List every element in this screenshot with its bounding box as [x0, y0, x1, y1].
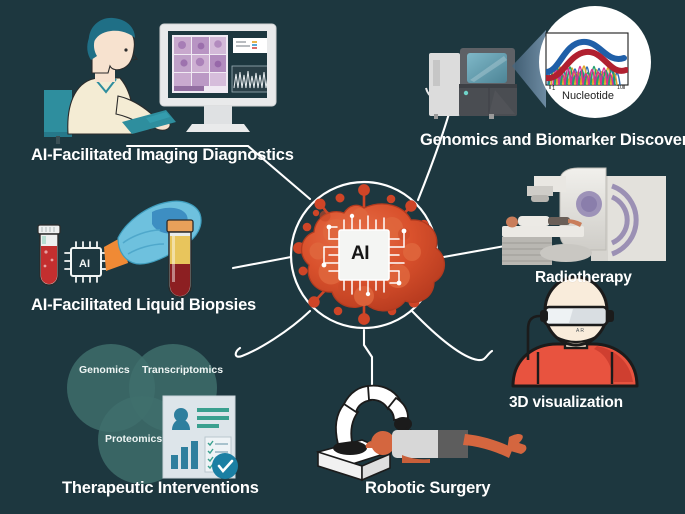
- infographic-canvas: AI-Facilitated Imaging Diagnostics Genom…: [0, 0, 685, 514]
- label-3d-visualization: 3D visualization: [509, 394, 623, 412]
- label-therapeutic-interventions: Therapeutic Interventions: [62, 479, 259, 498]
- venn-label-proteomics: Proteomics: [105, 433, 162, 445]
- label-robotic-surgery: Robotic Surgery: [365, 479, 490, 498]
- biopsy-ai-chip-label: AI: [79, 258, 90, 270]
- label-genomics-biomarker: Genomics and Biomarker Discovery: [420, 131, 685, 150]
- label-liquid-biopsies: AI-Facilitated Liquid Biopsies: [31, 296, 256, 315]
- pathology-tiles: [174, 37, 226, 86]
- venn-label-transcriptomics: Transcriptomics: [142, 364, 223, 376]
- infographic-artboard: [0, 0, 685, 514]
- verified-badge: [212, 453, 238, 479]
- label-radiotherapy: Radiotherapy: [535, 269, 632, 287]
- patient-table: [502, 226, 584, 237]
- table-base: [540, 244, 592, 262]
- ar-headset-lens-label: AR: [576, 328, 585, 334]
- blood-vial-small-icon: [38, 225, 60, 285]
- robot-wrist: [394, 417, 412, 431]
- nucleotide-tick-max: 10: [617, 85, 623, 91]
- nucleotide-tick-min: 1: [552, 86, 555, 92]
- report-card-icon: [163, 396, 238, 479]
- blood-tube-icon: [167, 220, 193, 297]
- nucleotide-axis-caption: Nucleotide: [562, 90, 614, 102]
- label-imaging-diagnostics: AI-Facilitated Imaging Diagnostics: [31, 146, 294, 165]
- venn-label-genomics: Genomics: [79, 364, 130, 376]
- center-ai-label: AI: [351, 243, 369, 265]
- radiation-nozzle: [531, 195, 549, 202]
- dna-sequencer-icon: [429, 48, 517, 119]
